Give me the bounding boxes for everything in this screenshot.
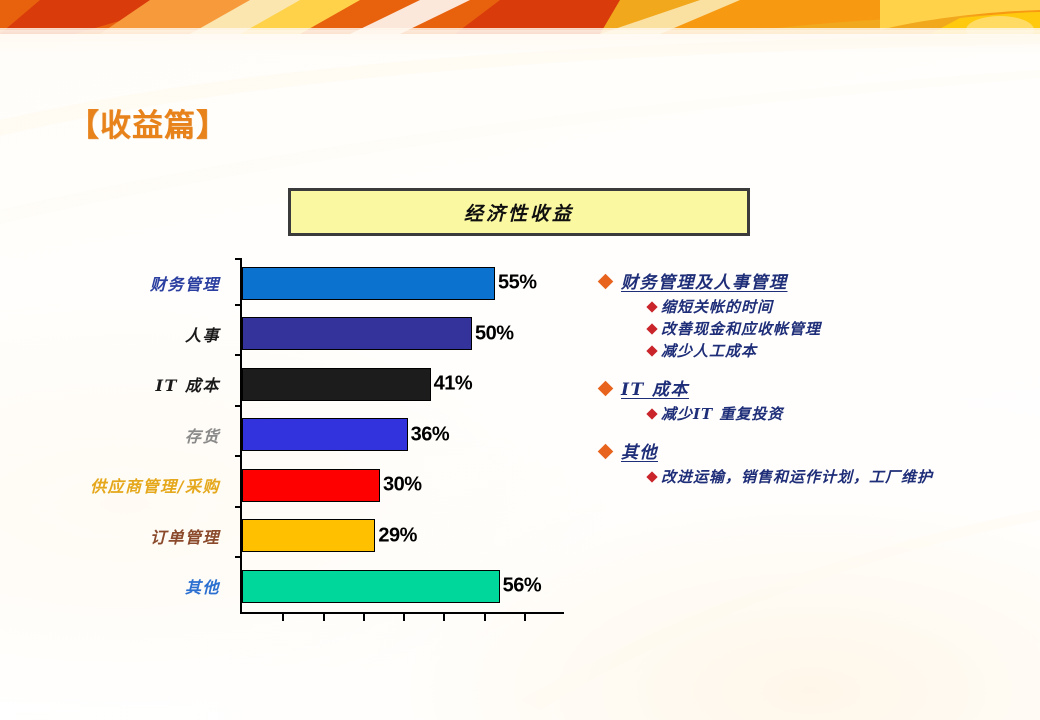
chart-bar-value-label: 41% [434,373,473,396]
chart-category-label: 财务管理 [10,271,220,295]
chart-heading-box: 经济性收益 [288,188,750,236]
diamond-sub-bullet-icon [646,408,657,419]
chart-bar-row: 36% [242,413,564,457]
chart-y-tick [235,556,242,558]
diamond-sub-bullet-icon [646,301,657,312]
bullet-group: 财务管理及人事管理缩短关帐的时间改善现金和应收帐管理减少人工成本 [600,268,1030,361]
chart-category-label: 供应商管理/采购 [10,473,220,497]
chart-y-tick [235,455,242,457]
chart-heading-label: 经济性收益 [464,199,574,226]
chart-x-tick [403,612,405,621]
chart-bar: 55% [242,267,495,300]
chart-bar: 36% [242,418,408,451]
bullet-heading-label: 其他 [621,438,658,463]
benefits-bar-chart: 55%财务管理50%人事41%IT 成本36%存货30%供应商管理/采购29%订… [40,258,580,628]
chart-bar-value-label: 30% [383,474,422,497]
chart-category-label: 订单管理 [10,524,220,548]
chart-y-tick [235,506,242,508]
chart-bar-row: 29% [242,514,564,558]
bullet-sub-item-label: 减少IT 重复投资 [661,403,783,424]
page-title: 【收益篇】 [68,100,228,145]
bullet-sub-item: 改进运输，销售和运作计划，工厂维护 [648,466,1030,487]
diamond-bullet-icon [598,274,614,290]
bullet-sub-item: 改善现金和应收帐管理 [648,318,1030,339]
chart-category-label: 人事 [10,322,220,346]
chart-y-tick [235,304,242,306]
chart-bar: 29% [242,519,375,552]
chart-bar-row: 56% [242,564,564,608]
chart-bar-value-label: 29% [378,524,417,547]
chart-bar-row: 30% [242,463,564,507]
chart-category-label: 存货 [10,423,220,447]
chart-x-tick [363,612,365,621]
chart-x-tick [282,612,284,621]
diamond-sub-bullet-icon [646,323,657,334]
bullet-group: IT 成本减少IT 重复投资 [600,375,1030,424]
chart-x-tick [443,612,445,621]
chart-bar: 41% [242,368,431,401]
chart-bar-value-label: 56% [503,575,542,598]
bullet-group: 其他改进运输，销售和运作计划，工厂维护 [600,438,1030,487]
diamond-bullet-icon [598,444,614,460]
bullet-heading-row: 财务管理及人事管理 [600,268,1030,293]
bullet-heading-label: 财务管理及人事管理 [621,268,788,293]
chart-category-label: 其他 [10,574,220,598]
diamond-bullet-icon [598,381,614,397]
chart-bar-value-label: 50% [475,322,514,345]
bullet-sub-item: 减少IT 重复投资 [648,403,1030,424]
chart-x-tick [323,612,325,621]
chart-bar: 56% [242,570,500,603]
chart-y-tick [235,258,242,260]
chart-y-tick [235,354,242,356]
chart-x-tick [524,612,526,621]
slide-canvas: 【收益篇】 经济性收益 55%财务管理50%人事41%IT 成本36%存货30%… [0,0,1040,720]
chart-y-tick [235,405,242,407]
decorative-swoosh-banner [0,0,1040,34]
benefits-bullet-list: 财务管理及人事管理缩短关帐的时间改善现金和应收帐管理减少人工成本IT 成本减少I… [600,268,1030,501]
bullet-heading-row: IT 成本 [600,375,1030,400]
chart-bar-row: 50% [242,312,564,356]
bullet-heading-row: 其他 [600,438,1030,463]
diamond-sub-bullet-icon [646,471,657,482]
chart-bar-value-label: 55% [498,272,537,295]
bullet-sub-item-label: 减少人工成本 [661,340,757,361]
bullet-sub-item-label: 缩短关帐的时间 [661,296,773,317]
chart-category-label: IT 成本 [10,372,220,396]
diamond-sub-bullet-icon [646,345,657,356]
chart-bar-row: 55% [242,261,564,305]
chart-plot-area: 55%财务管理50%人事41%IT 成本36%存货30%供应商管理/采购29%订… [240,258,564,614]
chart-x-tick [484,612,486,621]
chart-bar: 50% [242,317,472,350]
bullet-heading-label: IT 成本 [621,375,689,400]
chart-bar-value-label: 36% [411,423,450,446]
bullet-sub-item-label: 改进运输，销售和运作计划，工厂维护 [661,466,933,487]
chart-bar-row: 41% [242,362,564,406]
bullet-sub-item: 缩短关帐的时间 [648,296,1030,317]
bullet-sub-item: 减少人工成本 [648,340,1030,361]
bullet-sub-item-label: 改善现金和应收帐管理 [661,318,821,339]
chart-bar: 30% [242,469,380,502]
